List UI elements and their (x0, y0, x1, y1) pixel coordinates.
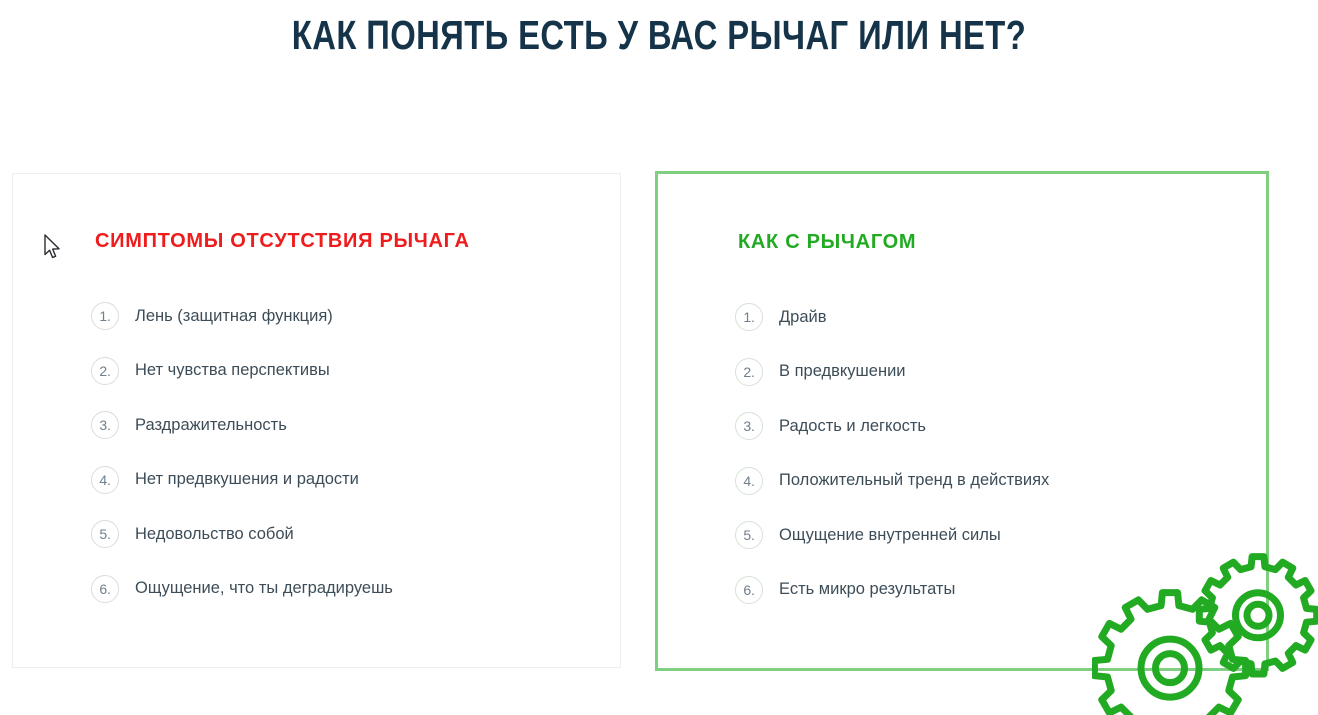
list-item-number: 6. (91, 575, 119, 603)
with-lever-card: КАК С РЫЧАГОМ 1. Драйв 2. В предвкушении… (655, 171, 1269, 671)
list-item-label: Лень (защитная функция) (135, 307, 333, 326)
list-item-label: Недовольство собой (135, 525, 294, 544)
page-title: КАК ПОНЯТЬ ЕСТЬ У ВАС РЫЧАГ ИЛИ НЕТ? (132, 8, 1186, 62)
list-item-number: 4. (735, 467, 763, 495)
list-item: 3. Радость и легкость (735, 412, 1049, 440)
list-item-label: Есть микро результаты (779, 580, 955, 599)
list-item-number: 1. (735, 303, 763, 331)
list-item: 1. Лень (защитная функция) (91, 302, 393, 330)
list-item-number: 1. (91, 302, 119, 330)
list-item-number: 3. (91, 411, 119, 439)
list-item-number: 5. (91, 520, 119, 548)
list-item-number: 5. (735, 521, 763, 549)
list-item-number: 3. (735, 412, 763, 440)
list-item-label: Раздражительность (135, 416, 287, 435)
symptoms-card-heading: СИМПТОМЫ ОТСУТСТВИЯ РЫЧАГА (95, 230, 470, 253)
list-item-label: Ощущение, что ты деградируешь (135, 579, 393, 598)
symptoms-card: СИМПТОМЫ ОТСУТСТВИЯ РЫЧАГА 1. Лень (защи… (12, 173, 621, 668)
with-lever-list: 1. Драйв 2. В предвкушении 3. Радость и … (735, 303, 1049, 630)
list-item-label: Положительный тренд в действиях (779, 471, 1049, 490)
with-lever-card-heading: КАК С РЫЧАГОМ (738, 231, 916, 254)
list-item-label: Ощущение внутренней силы (779, 526, 1001, 545)
list-item: 6. Ощущение, что ты деградируешь (91, 575, 393, 603)
list-item: 2. Нет чувства перспективы (91, 357, 393, 385)
list-item-label: Нет предвкушения и радости (135, 470, 359, 489)
list-item: 3. Раздражительность (91, 411, 393, 439)
list-item: 4. Положительный тренд в действиях (735, 467, 1049, 495)
list-item-label: В предвкушении (779, 362, 906, 381)
list-item: 5. Ощущение внутренней силы (735, 521, 1049, 549)
symptoms-list: 1. Лень (защитная функция) 2. Нет чувств… (91, 302, 393, 629)
list-item-number: 6. (735, 576, 763, 604)
list-item: 2. В предвкушении (735, 358, 1049, 386)
list-item: 4. Нет предвкушения и радости (91, 466, 393, 494)
list-item-number: 4. (91, 466, 119, 494)
list-item: 1. Драйв (735, 303, 1049, 331)
mouse-pointer-icon (44, 234, 62, 260)
list-item-number: 2. (735, 358, 763, 386)
list-item: 6. Есть микро результаты (735, 576, 1049, 604)
list-item-label: Нет чувства перспективы (135, 361, 330, 380)
list-item-label: Радость и легкость (779, 417, 926, 436)
list-item-number: 2. (91, 357, 119, 385)
list-item-label: Драйв (779, 308, 827, 327)
list-item: 5. Недовольство собой (91, 520, 393, 548)
